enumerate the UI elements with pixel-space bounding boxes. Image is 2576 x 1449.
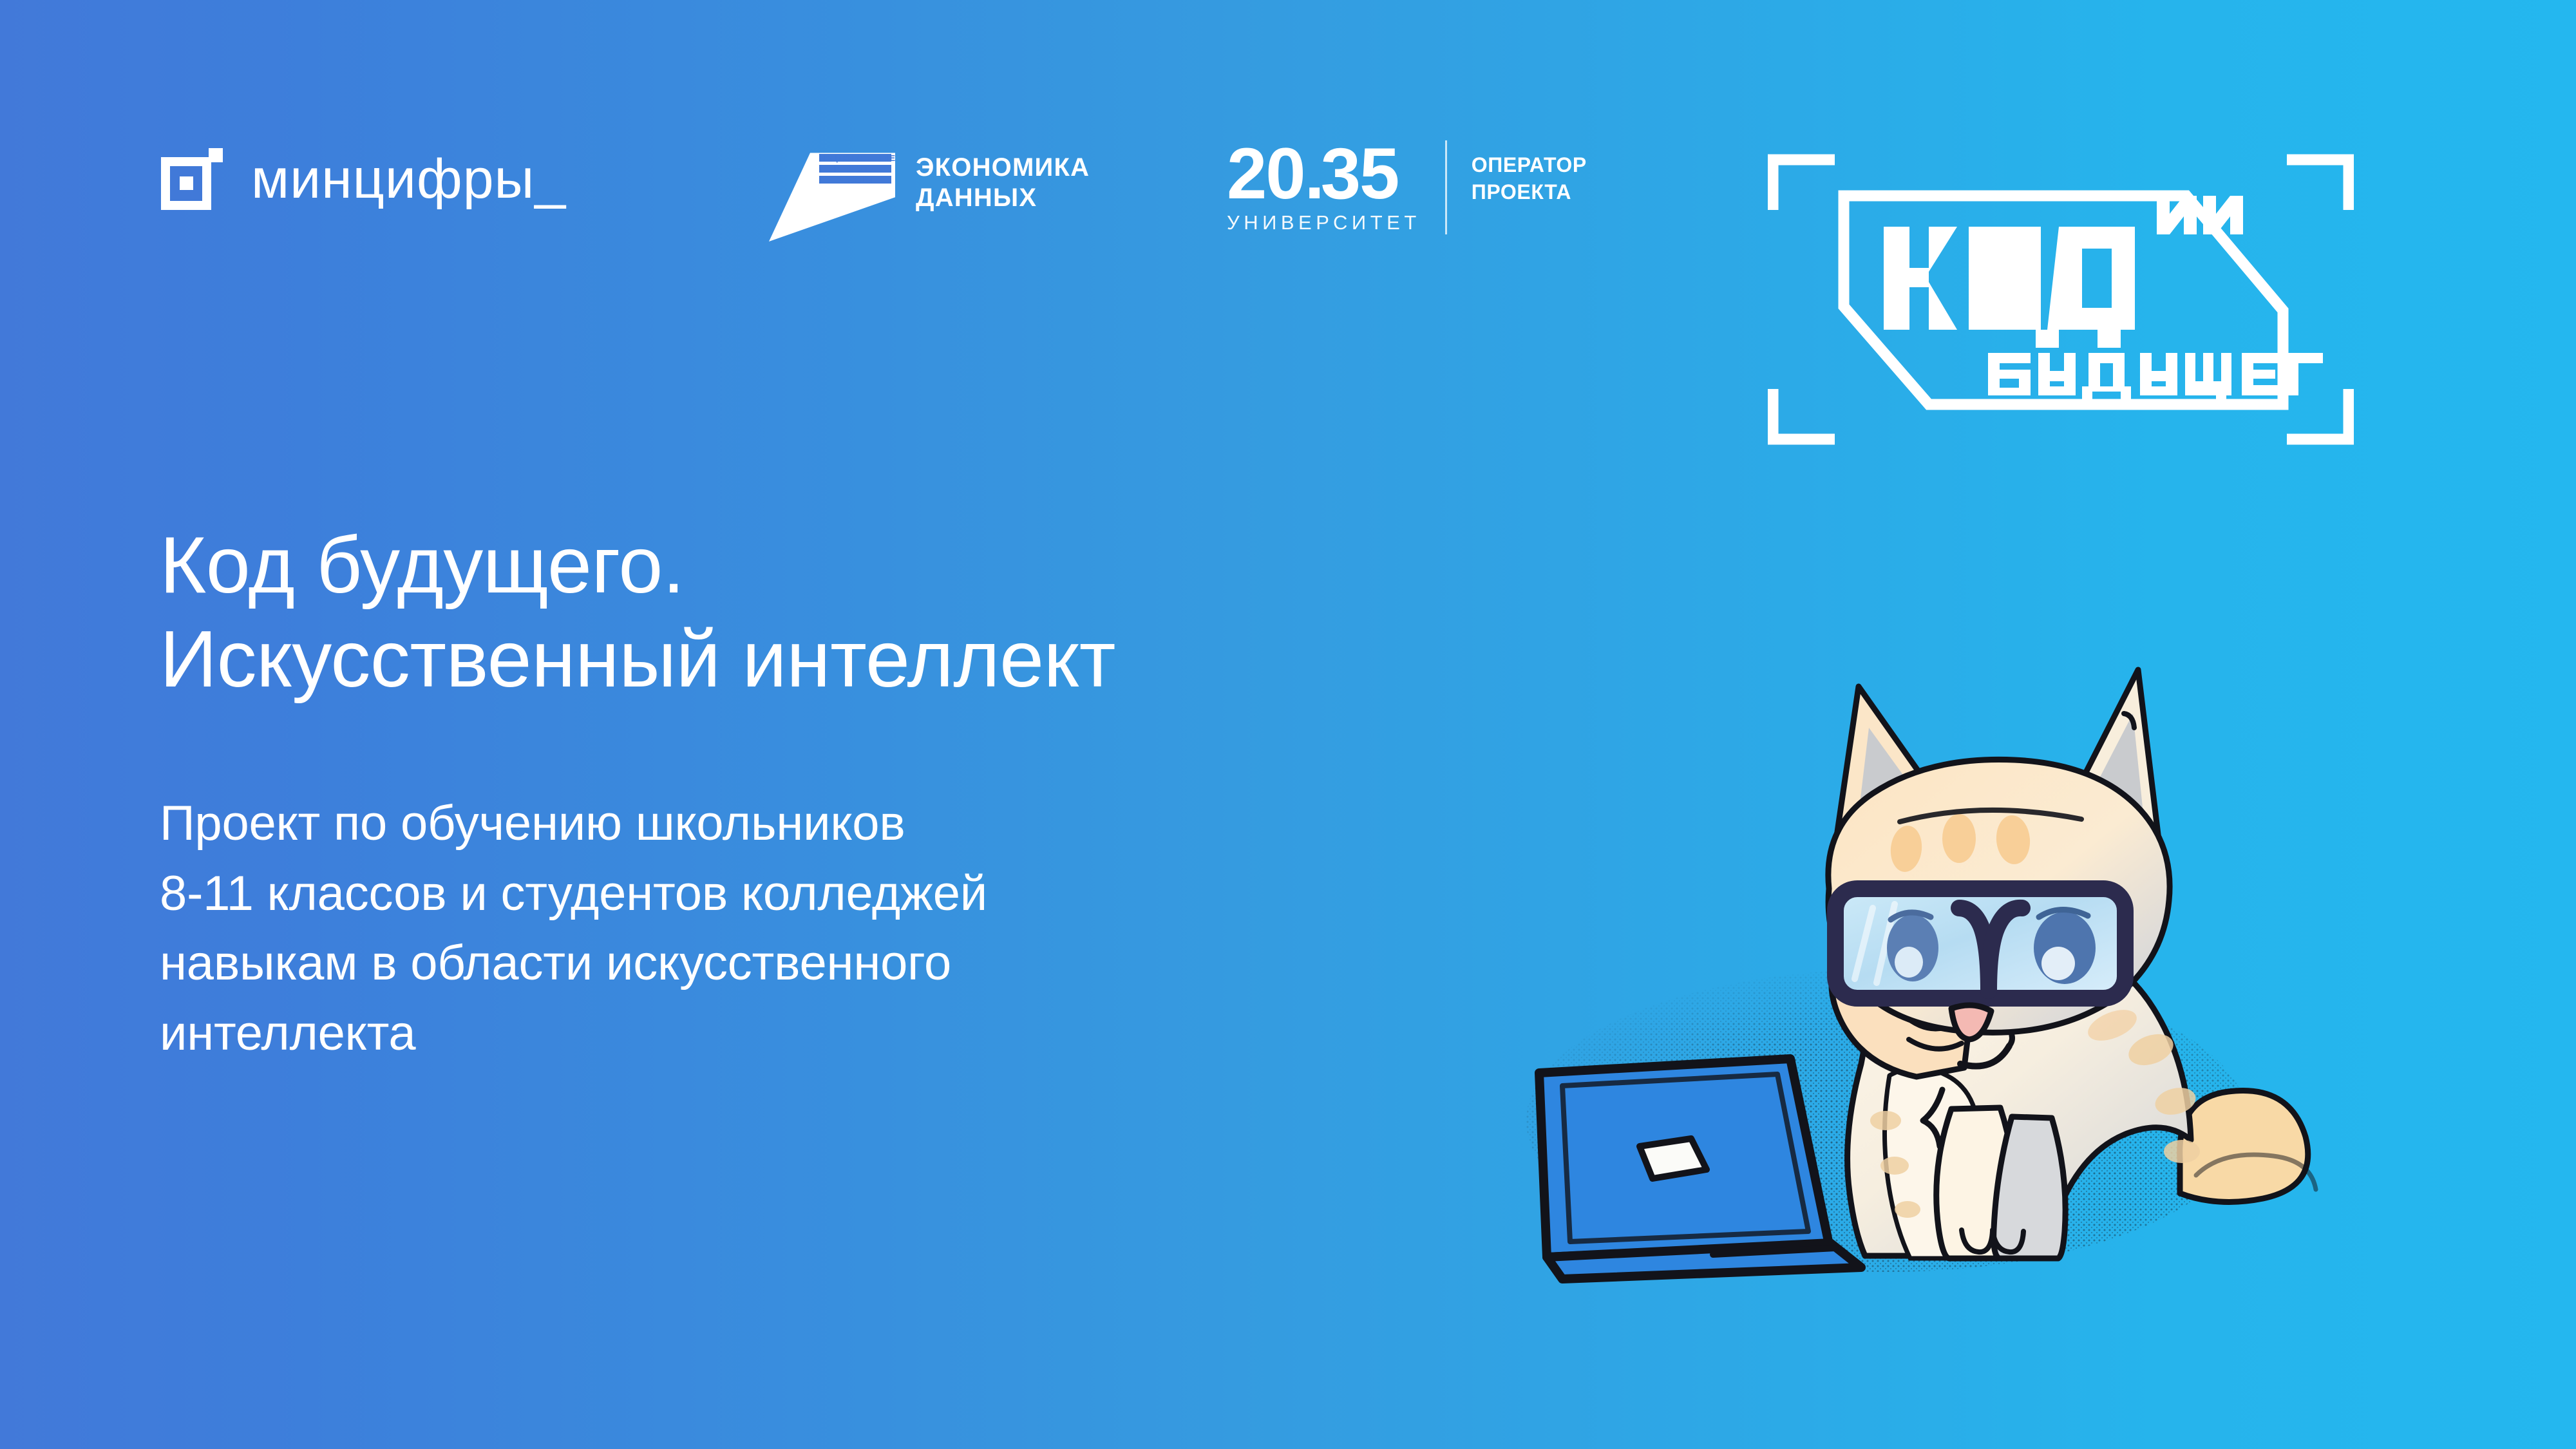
logo-mincifry[interactable]: минцифры_ — [161, 148, 566, 210]
national-projects-flag-icon: НАЦИОНАЛЬНЫЕ ПРОЕКТЫ РОССИИ — [766, 138, 895, 241]
caption-line-2: ДАННЫХ — [916, 183, 1090, 213]
title-line-2: Искусственный интеллект — [160, 612, 1115, 706]
body-line-4: интеллекта — [160, 999, 987, 1069]
body-line-1: Проект по обучению школьников — [160, 789, 987, 859]
kod-wordmark — [1884, 227, 2135, 348]
operator-line-1: ОПЕРАТОР — [1472, 152, 1587, 179]
cat-tail — [2180, 1090, 2308, 1202]
university-subtitle: УНИВЕРСИТЕТ — [1227, 211, 1421, 234]
code-of-future-badge-icon — [1768, 148, 2354, 451]
logo-national-projects[interactable]: НАЦИОНАЛЬНЫЕ ПРОЕКТЫ РОССИИ ЭКОНОМИКА ДА… — [766, 138, 1090, 241]
economy-of-data-caption: ЭКОНОМИКА ДАННЫХ — [916, 138, 1090, 213]
body-line-2: 8-11 классов и студентов колледжей — [160, 859, 987, 929]
num-20: 20 — [1227, 133, 1305, 214]
logo-code-of-future[interactable] — [1768, 148, 2354, 451]
mincifry-wordmark: минцифры_ — [251, 151, 566, 207]
caption-line-1: ЭКОНОМИКА — [916, 153, 1090, 183]
cat-vr-goggles — [1835, 889, 2125, 998]
title-line-1: Код будущего. — [160, 518, 1115, 612]
page-subtitle: Проект по обучению школьников 8-11 класс… — [160, 789, 987, 1069]
body-line-3: навыкам в области искусственного — [160, 929, 987, 999]
flag-line-3: РОССИИ — [819, 175, 891, 185]
mincifry-mark-icon — [161, 148, 223, 210]
logo-university-2035[interactable]: 20.35 УНИВЕРСИТЕТ ОПЕРАТОР ПРОЕКТА — [1227, 140, 1587, 234]
page-title: Код будущего. Искусственный интеллект — [160, 518, 1115, 707]
operator-line-2: ПРОЕКТА — [1472, 179, 1587, 206]
project-operator-label: ОПЕРАТОР ПРОЕКТА — [1472, 140, 1587, 205]
cat-illustration — [1501, 631, 2415, 1314]
cat-front-leg-right — [1994, 1117, 2065, 1258]
university-number: 20.35 — [1227, 140, 1421, 207]
num-dot: . — [1305, 133, 1321, 214]
header-logo-row: минцифры_ НАЦИОНАЛЬНЫЕ ПРОЕКТЫ РОССИИ ЭК… — [0, 0, 2576, 451]
flag-line-2: ПРОЕКТЫ — [819, 164, 891, 175]
flag-line-1: НАЦИОНАЛЬНЫЕ — [819, 153, 891, 164]
num-35: 35 — [1321, 133, 1399, 214]
vertical-divider — [1445, 140, 1447, 234]
